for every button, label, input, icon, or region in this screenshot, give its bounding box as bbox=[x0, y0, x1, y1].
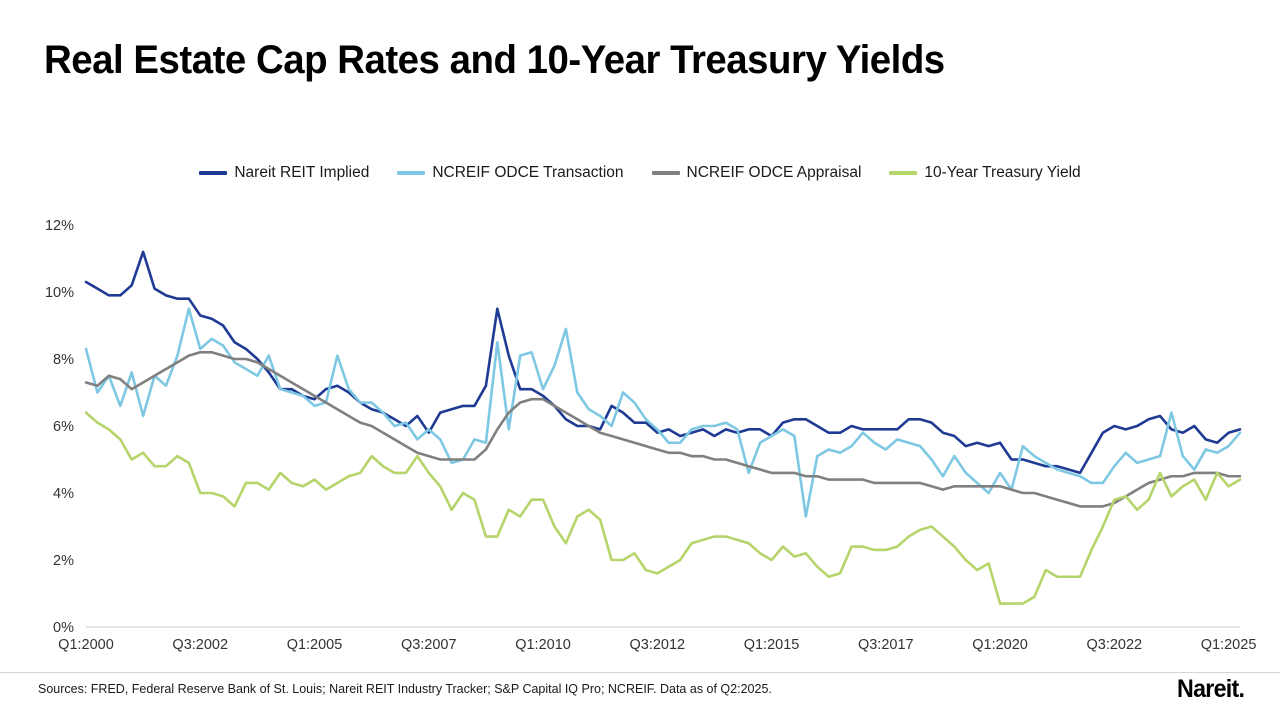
y-axis-labels: 0%2%4%6%8%10%12% bbox=[45, 218, 74, 636]
x-axis-tick-label: Q3:2012 bbox=[629, 637, 685, 653]
x-axis-labels: Q1:2000Q3:2002Q1:2005Q3:2007Q1:2010Q3:20… bbox=[58, 637, 1256, 653]
chart-page: Real Estate Cap Rates and 10-Year Treasu… bbox=[0, 0, 1280, 720]
source-note: Sources: FRED, Federal Reserve Bank of S… bbox=[38, 682, 772, 696]
x-axis-tick-label: Q3:2017 bbox=[858, 637, 914, 653]
y-axis-tick-label: 10% bbox=[45, 285, 74, 301]
y-axis-tick-label: 4% bbox=[53, 486, 74, 502]
series-line-3 bbox=[86, 413, 1240, 604]
x-axis-tick-label: Q1:2015 bbox=[744, 637, 800, 653]
series-layer bbox=[86, 252, 1240, 604]
x-axis-tick-label: Q3:2022 bbox=[1086, 637, 1142, 653]
plot-area: 0%2%4%6%8%10%12% Q1:2000Q3:2002Q1:2005Q3… bbox=[0, 0, 1280, 720]
line-chart-svg: 0%2%4%6%8%10%12% Q1:2000Q3:2002Q1:2005Q3… bbox=[0, 0, 1280, 720]
footer-divider bbox=[0, 672, 1280, 673]
x-axis-tick-label: Q1:2005 bbox=[287, 637, 343, 653]
x-axis-tick-label: Q3:2007 bbox=[401, 637, 457, 653]
y-axis-tick-label: 12% bbox=[45, 218, 74, 234]
x-axis-tick-label: Q1:2000 bbox=[58, 637, 114, 653]
x-axis-tick-label: Q1:2010 bbox=[515, 637, 571, 653]
x-axis-tick-label: Q1:2020 bbox=[972, 637, 1028, 653]
x-axis-tick-label: Q1:2025 bbox=[1201, 637, 1257, 653]
y-axis-tick-label: 8% bbox=[53, 352, 74, 368]
x-axis-tick-label: Q3:2002 bbox=[172, 637, 228, 653]
y-axis-tick-label: 2% bbox=[53, 553, 74, 569]
nareit-logo: Nareit. bbox=[1177, 675, 1244, 704]
y-axis-tick-label: 6% bbox=[53, 419, 74, 435]
y-axis-tick-label: 0% bbox=[53, 620, 74, 636]
